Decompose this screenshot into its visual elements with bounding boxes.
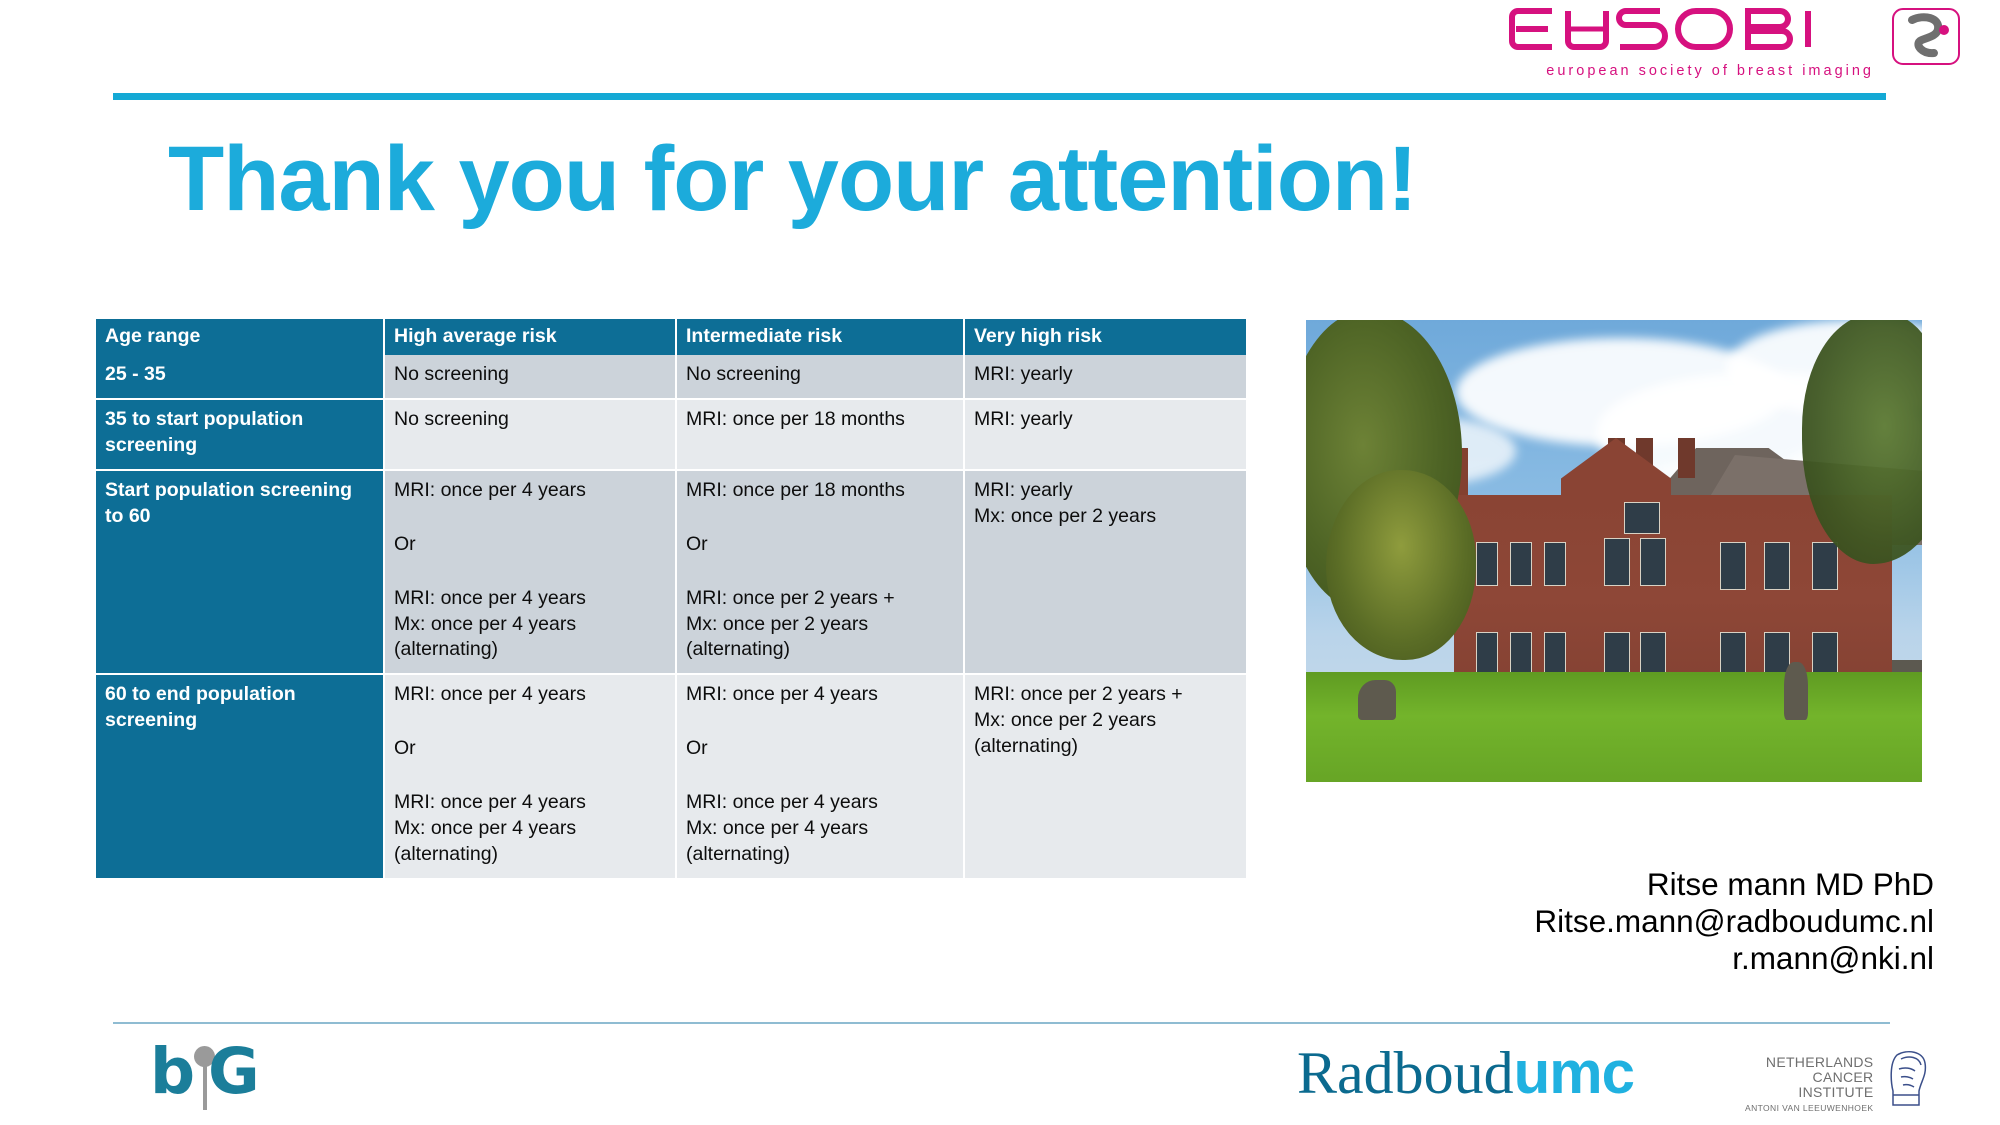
cell-intermediate-risk: No screening: [676, 355, 964, 399]
lawn: [1306, 672, 1922, 782]
nki-portrait-icon: [1879, 1047, 1941, 1114]
column-header-high-average-risk: High average risk: [384, 319, 676, 355]
window: [1812, 542, 1838, 590]
row-header-age-range: 25 - 35: [96, 355, 384, 399]
eusobi-monogram-icon: [1892, 8, 1960, 65]
window: [1544, 542, 1566, 586]
table-row: 35 to start population screening No scre…: [96, 399, 1246, 470]
table-header-row: Age range High average risk Intermediate…: [96, 319, 1246, 355]
big-logo-letter-b: b: [150, 1040, 195, 1103]
window: [1604, 538, 1630, 586]
cell-high-average-risk: No screening: [384, 399, 676, 470]
column-header-intermediate-risk: Intermediate risk: [676, 319, 964, 355]
big-logo-letter-g: G: [208, 1040, 260, 1103]
nki-line-3: INSTITUTE: [1766, 1085, 1874, 1100]
cell-very-high-risk: MRI: yearly: [964, 399, 1246, 470]
big-logo: b G: [150, 1044, 260, 1108]
cell-high-average-risk: No screening: [384, 355, 676, 399]
cell-very-high-risk: MRI: yearly: [964, 355, 1246, 399]
table-row: 25 - 35 No screening No screening MRI: y…: [96, 355, 1246, 399]
cell-intermediate-risk: MRI: once per 18 months: [676, 399, 964, 470]
window: [1510, 542, 1532, 586]
garden-statue: [1358, 680, 1396, 720]
radboudumc-logo-part2: umc: [1514, 1039, 1634, 1106]
window: [1720, 542, 1746, 590]
nki-subtitle: ANTONI VAN LEEUWENHOEK: [1745, 1103, 1873, 1113]
window: [1640, 538, 1666, 586]
eusobi-logo: european society of breast imaging: [1508, 6, 1960, 79]
dormer-window: [1624, 502, 1660, 534]
column-header-age-range: Age range: [96, 319, 384, 355]
cell-very-high-risk: MRI: once per 2 years +Mx: once per 2 ye…: [964, 674, 1246, 879]
cell-intermediate-risk: MRI: once per 18 monthsOrMRI: once per 2…: [676, 470, 964, 675]
eusobi-tagline: european society of breast imaging: [1546, 63, 1874, 79]
garden-statue: [1784, 662, 1808, 720]
nki-logo-text: NETHERLANDS CANCER INSTITUTE: [1766, 1047, 1874, 1100]
cell-very-high-risk: MRI: yearlyMx: once per 2 years: [964, 470, 1246, 675]
contact-email-secondary[interactable]: r.mann@nki.nl: [1300, 940, 1934, 977]
contact-email-primary[interactable]: Ritse.mann@radboudumc.nl: [1300, 903, 1934, 940]
radboudumc-logo-part1: Radboud: [1297, 1040, 1514, 1106]
window: [1764, 542, 1790, 590]
header-divider: [113, 93, 1886, 100]
cell-high-average-risk: MRI: once per 4 yearsOrMRI: once per 4 y…: [384, 470, 676, 675]
contact-block: Ritse mann MD PhD Ritse.mann@radboudumc.…: [1300, 866, 1934, 977]
page-title: Thank you for your attention!: [168, 131, 1768, 228]
chimney: [1678, 438, 1695, 478]
row-header-age-range: 60 to end population screening: [96, 674, 384, 879]
row-header-age-range: Start population screening to 60: [96, 470, 384, 675]
tree: [1326, 470, 1476, 660]
cell-high-average-risk: MRI: once per 4 yearsOrMRI: once per 4 y…: [384, 674, 676, 879]
column-header-very-high-risk: Very high risk: [964, 319, 1246, 355]
nki-line-1: NETHERLANDS: [1766, 1055, 1874, 1070]
mansion-photo: [1306, 320, 1922, 782]
radboudumc-logo: Radboudumc: [1297, 1043, 1634, 1103]
row-header-age-range: 35 to start population screening: [96, 399, 384, 470]
screening-recommendation-table: Age range High average risk Intermediate…: [96, 319, 1246, 880]
contact-name: Ritse mann MD PhD: [1300, 866, 1934, 903]
table-row: 60 to end population screening MRI: once…: [96, 674, 1246, 879]
table-row: Start population screening to 60 MRI: on…: [96, 470, 1246, 675]
big-logo-needle-icon: [203, 1064, 207, 1110]
eusobi-logo-text: european society of breast imaging: [1508, 6, 1878, 79]
nki-line-2: CANCER: [1766, 1070, 1874, 1085]
footer-divider: [113, 1022, 1890, 1024]
eusobi-wordmark: [1508, 6, 1878, 56]
netherlands-cancer-institute-logo: NETHERLANDS CANCER INSTITUTE ANTONI VAN …: [1745, 1047, 1955, 1113]
cell-intermediate-risk: MRI: once per 4 yearsOrMRI: once per 4 y…: [676, 674, 964, 879]
window: [1476, 542, 1498, 586]
